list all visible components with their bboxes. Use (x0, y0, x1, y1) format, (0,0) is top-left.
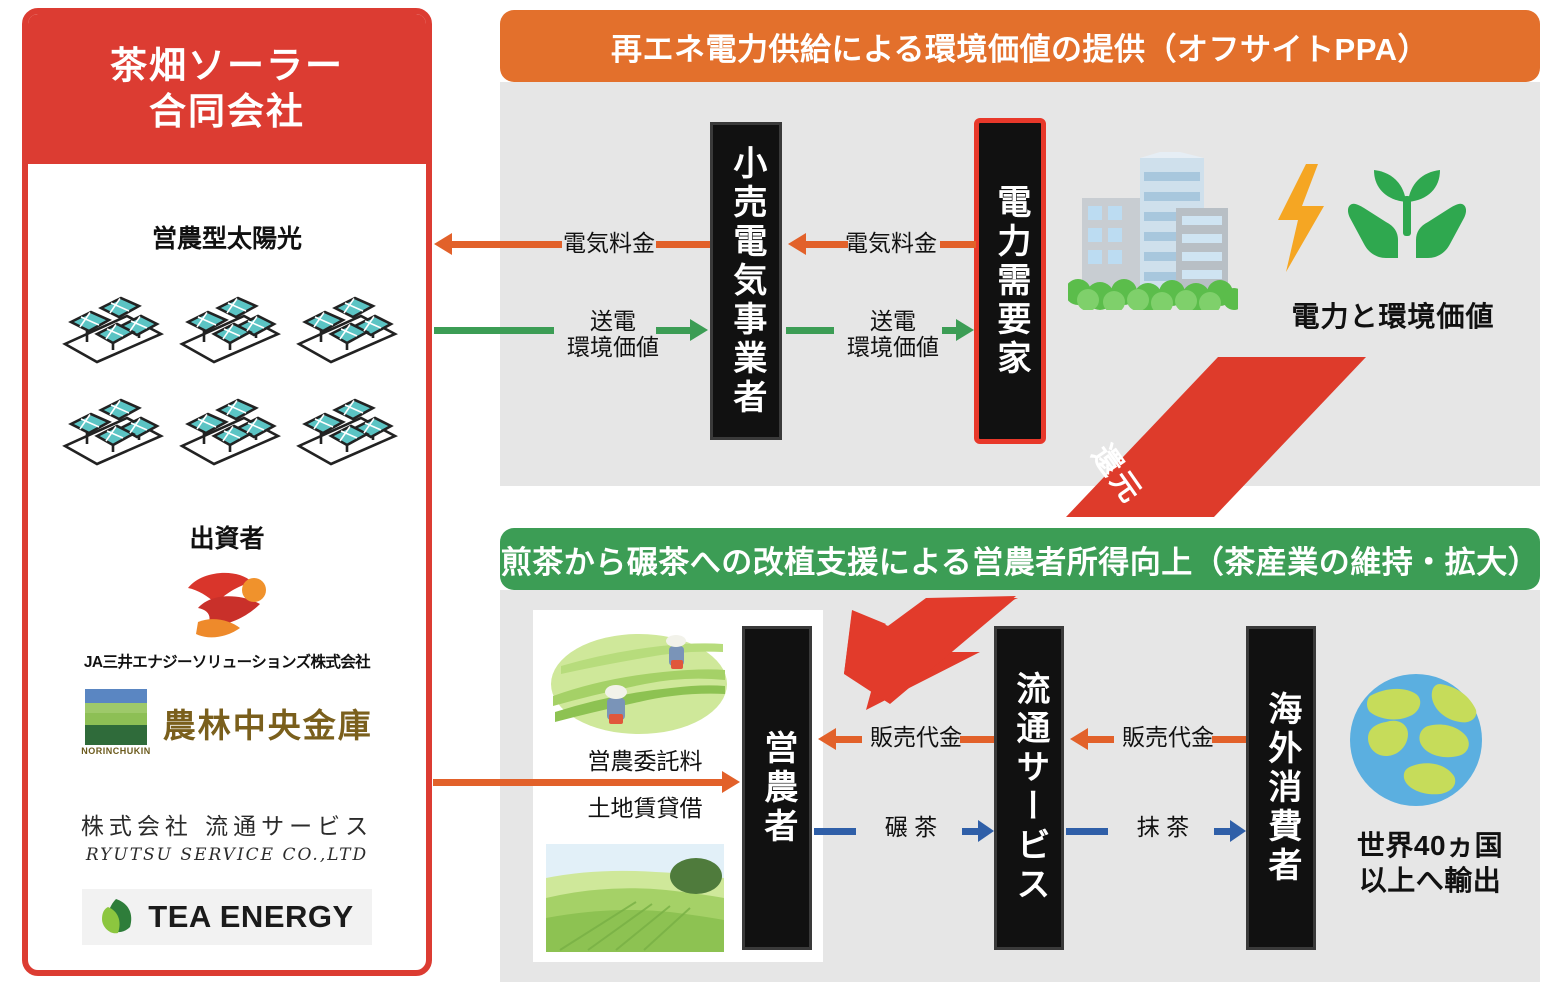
land-lease-label: 土地賃貸借 (560, 795, 730, 821)
solar-panel-icon (291, 384, 403, 472)
tea-banner-title: 煎茶から碾茶への改植支援による営農者所得向上（茶産業の維持・拡大） (501, 537, 1540, 582)
fee-label-left: 電気料金 (544, 230, 674, 256)
fee-arrowhead-left (434, 233, 452, 255)
solar-panel-icon (174, 282, 286, 370)
solar-panel-icon (57, 282, 169, 370)
actor-farmer: 営農者 (742, 626, 812, 950)
tea-section-banner: 煎茶から碾茶への改植支援による営農者所得向上（茶産業の維持・拡大） (500, 528, 1540, 590)
matcha-line-a (1066, 828, 1108, 835)
tea-field-photo (540, 840, 730, 952)
investor-ja-mitsui-name: JA三井エナジーソリューションズ株式会社 (84, 650, 370, 672)
tencha-label: 碾 茶 (856, 814, 966, 840)
company-name-line2: 合同会社 (149, 90, 305, 134)
city-buildings-icon (1068, 150, 1238, 310)
commission-line (433, 779, 723, 786)
investor-norinchukin-name: 農林中央金庫 (163, 699, 373, 747)
power-value-caption: 電力と環境価値 (1258, 295, 1528, 335)
company-header: 茶畑ソーラー 合同会社 (28, 14, 426, 164)
power-label-right-line2: 環境価値 (832, 334, 954, 360)
actor-demand-label: 電力需要家 (992, 184, 1028, 379)
matcha-arrowhead (1230, 820, 1246, 842)
company-name-line1: 茶畑ソーラー (110, 44, 344, 88)
tea-harvest-photo (547, 620, 727, 738)
company-card: 茶畑ソーラー 合同会社 営農型太陽光 出資者 JA三井エナジーソリューションズ株… (22, 8, 432, 976)
power-label-left-line2: 環境価値 (552, 334, 674, 360)
actor-power-demand: 電力需要家 (974, 118, 1046, 444)
norinchukin-logo-sub: NORINCHUKIN (81, 746, 151, 756)
commission-label: 営農委託料 (560, 748, 730, 774)
hands-holding-sprout-icon (1348, 160, 1466, 270)
solar-panel-icon (291, 282, 403, 370)
solar-panel-icon (57, 384, 169, 472)
matcha-label: 抹 茶 (1108, 814, 1218, 840)
solar-panel-grid (54, 282, 406, 472)
power-label-right: 送電 環境価値 (832, 308, 954, 361)
actor-retail-electricity: 小売電気事業者 (710, 122, 782, 440)
fee-arrowhead-right (788, 233, 806, 255)
investor-ryutsu-service: 株式会社 流通サービス RYUTSU SERVICE CO.,LTD (28, 807, 426, 865)
ppa-section-banner: 再エネ電力供給による環境価値の提供（オフサイトPPA） (500, 10, 1540, 82)
power-label-left: 送電 環境価値 (552, 308, 674, 361)
actor-farmer-label: 営農者 (759, 730, 795, 847)
globe-icon (1346, 670, 1486, 810)
fee-line-left-b (656, 241, 710, 248)
power-line-left-b (656, 327, 692, 334)
diagram-canvas: 茶畑ソーラー 合同会社 営農型太陽光 出資者 JA三井エナジーソリューションズ株… (0, 0, 1548, 992)
solar-panel-icon (174, 384, 286, 472)
power-arrowhead-left (690, 319, 708, 341)
actor-consumer-label: 海外消費者 (1263, 691, 1299, 886)
fee-line-right-b (940, 241, 976, 248)
norinchukin-logo-icon: NORINCHUKIN (81, 689, 151, 756)
investor-ryutsu-name: 株式会社 流通サービス (81, 807, 373, 841)
investor-tea-energy-name: TEA ENERGY (148, 899, 353, 935)
power-arrowhead-right (956, 319, 974, 341)
investor-norinchukin: NORINCHUKIN 農林中央金庫 (28, 689, 426, 756)
sales-arrowhead-left (818, 728, 836, 750)
export-caption: 世界40ヵ国 以上へ輸出 (1330, 828, 1530, 898)
investors-title: 出資者 (28, 519, 426, 555)
investor-ja-mitsui: JA三井エナジーソリューションズ株式会社 (28, 564, 426, 672)
sales-line-left-b (960, 736, 994, 743)
tencha-line-a (814, 828, 856, 835)
investor-ryutsu-sub: RYUTSU SERVICE CO.,LTD (86, 845, 368, 865)
sales-arrowhead-right (1070, 728, 1088, 750)
lightning-bolt-icon (1272, 162, 1330, 274)
fee-label-right: 電気料金 (826, 230, 956, 256)
export-caption-line1: 世界40ヵ国 (1330, 828, 1530, 863)
actor-retail-label: 小売電気事業者 (728, 145, 764, 418)
ppa-banner-title: 再エネ電力供給による環境価値の提供（オフサイトPPA） (611, 24, 1429, 69)
sales-line-right-b (1212, 736, 1246, 743)
actor-overseas-consumer: 海外消費者 (1246, 626, 1316, 950)
power-line-right-a (786, 327, 834, 334)
ja-mitsui-logo-icon (168, 564, 286, 648)
solar-section-title: 営農型太陽光 (28, 219, 426, 255)
kangen-big-arrow (830, 596, 1020, 716)
export-caption-line2: 以上へ輸出 (1330, 863, 1530, 898)
power-label-right-line1: 送電 (832, 308, 954, 334)
tencha-arrowhead (978, 820, 994, 842)
power-line-left-a (434, 327, 554, 334)
tea-energy-logo-icon (92, 895, 138, 939)
investor-tea-energy: TEA ENERGY (28, 889, 426, 945)
